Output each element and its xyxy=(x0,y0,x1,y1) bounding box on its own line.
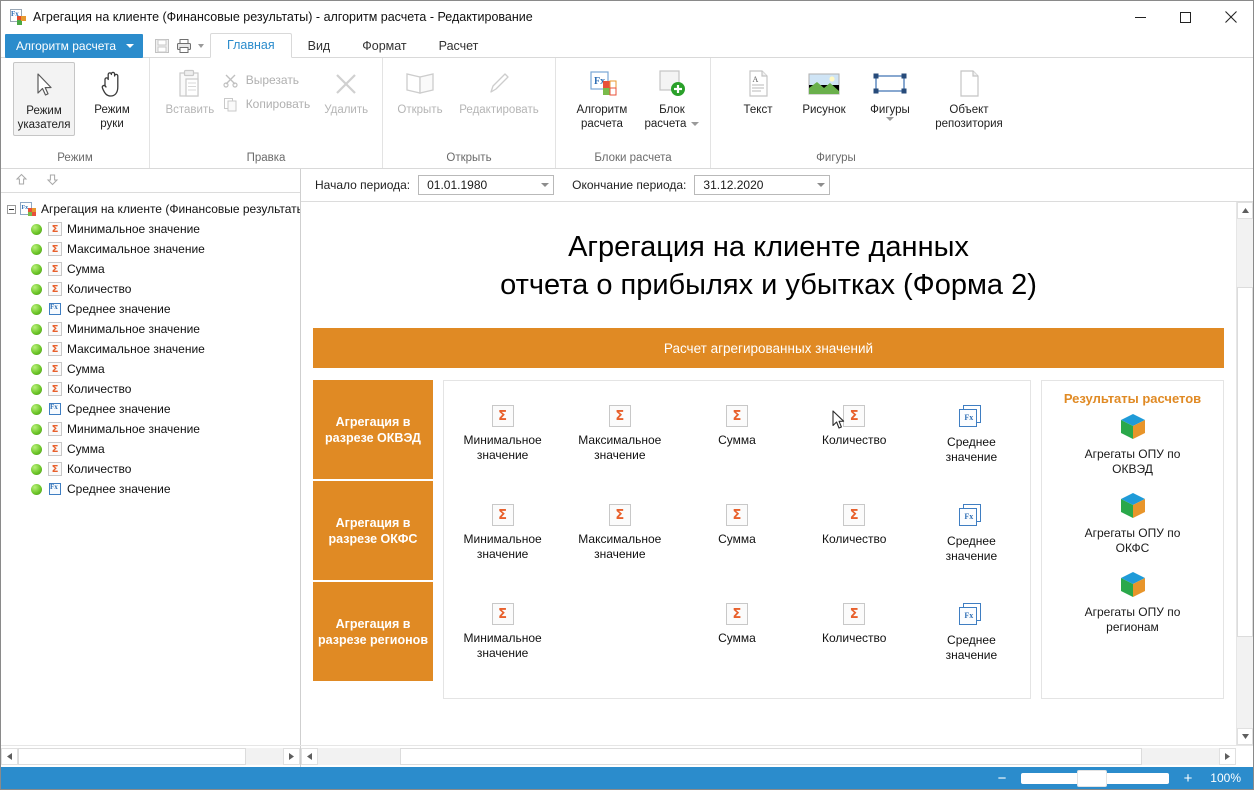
calculation-block[interactable]: ΣКоличество xyxy=(796,490,913,589)
tree-pane: Fx Агрегация на клиенте (Финансовые резу… xyxy=(1,169,301,745)
status-indicator-green xyxy=(31,284,42,295)
tree-children: ΣМинимальное значениеΣМаксимальное значе… xyxy=(1,219,300,499)
ribbon-group-label-rezhim: Режим xyxy=(1,152,149,168)
sigma-icon: Σ xyxy=(492,603,514,625)
tree-item-label: Количество xyxy=(67,462,131,476)
fx-icon: Fx xyxy=(958,504,984,528)
sigma-icon: Σ xyxy=(843,603,865,625)
collapse-icon[interactable] xyxy=(7,205,16,214)
arrow-down-icon[interactable] xyxy=(46,173,59,189)
canvas-hscroll-track[interactable] xyxy=(318,748,1219,765)
status-indicator-green xyxy=(31,464,42,475)
pointer-cursor-icon xyxy=(31,68,57,102)
sigma-icon: Σ xyxy=(48,262,62,276)
sigma-icon: Σ xyxy=(48,362,62,376)
sigma-icon: Σ xyxy=(48,462,62,476)
status-indicator-green xyxy=(31,424,42,435)
calc-block-label-2: расчета xyxy=(644,117,686,131)
hand-mode-button[interactable]: Режим руки xyxy=(81,62,143,134)
edit-button[interactable]: Редактировать xyxy=(453,62,545,120)
calculation-block[interactable]: ΣКоличество xyxy=(796,391,913,490)
calculation-block[interactable]: FxСреднеезначение xyxy=(913,490,1030,589)
calculation-block[interactable]: ΣСумма xyxy=(678,490,795,589)
open-button[interactable]: Открыть xyxy=(387,62,453,120)
calculation-block-label-1: Сумма xyxy=(718,433,756,447)
ribbon-tab-strip: Алгоритм расчета Главная xyxy=(1,33,1253,58)
tree-item-label: Максимальное значение xyxy=(67,342,205,356)
status-bar: − + 100% xyxy=(1,767,1253,789)
sigma-icon: Σ xyxy=(609,504,631,526)
pencil-icon xyxy=(486,67,512,101)
copy-button[interactable]: Копировать xyxy=(220,92,317,116)
tree-item-label: Среднее значение xyxy=(67,302,171,316)
cut-label: Вырезать xyxy=(246,73,299,87)
result-item-label-1: Агрегаты ОПУ по xyxy=(1085,605,1181,619)
calculation-block[interactable]: ΣМаксимальноезначение xyxy=(561,490,678,589)
aggregation-section-okfs[interactable]: Агрегация в разрезе ОКФС xyxy=(313,481,433,580)
start-period-combo[interactable]: 01.01.1980 xyxy=(418,175,554,195)
open-book-icon xyxy=(404,67,436,101)
delete-x-icon xyxy=(333,67,359,101)
sigma-icon: Σ xyxy=(843,504,865,526)
tree-item-label: Минимальное значение xyxy=(67,322,200,336)
status-indicator-green xyxy=(31,484,42,495)
scroll-up-button[interactable] xyxy=(1237,202,1253,219)
calculation-block-label-2: значение xyxy=(946,648,997,662)
canvas-hscroll-right-button[interactable] xyxy=(1219,748,1236,765)
application-menu-label: Алгоритм расчета xyxy=(16,39,116,53)
period-parameters-bar: Начало периода: 01.01.1980 Окончание пер… xyxy=(301,169,1253,202)
sigma-icon: Σ xyxy=(726,405,748,427)
algorithm-block-label-2: расчета xyxy=(581,117,623,131)
cube-icon xyxy=(1118,491,1148,521)
hand-mode-label-2: руки xyxy=(100,117,123,131)
tab-raschet[interactable]: Расчет xyxy=(423,34,495,58)
diagram-document: Агрегация на клиенте данных отчета о при… xyxy=(301,202,1236,699)
tree-toolbar xyxy=(1,169,300,193)
ribbon-tabs: Главная Вид Формат Расчет xyxy=(210,33,494,58)
chevron-down-icon xyxy=(817,183,825,187)
chevron-down-icon xyxy=(126,44,134,48)
application-window: Fx Агрегация на клиенте (Финансовые резу… xyxy=(0,0,1254,790)
text-shape-label: Текст xyxy=(744,103,773,117)
minimize-button[interactable] xyxy=(1118,2,1163,33)
status-indicator-green xyxy=(31,344,42,355)
vscroll-thumb[interactable] xyxy=(1237,287,1253,637)
calculation-block-label-1: Среднее xyxy=(947,435,996,449)
pointer-mode-button[interactable]: Режим указателя xyxy=(13,62,75,136)
shapes-icon xyxy=(871,67,909,101)
fx-module-icon: Fx xyxy=(20,202,36,217)
status-indicator-green xyxy=(31,384,42,395)
aggregation-sections-column: Агрегация в разрезе ОКВЭД Агрегация в ра… xyxy=(313,380,433,699)
calculation-block-label-2: значение xyxy=(594,547,645,561)
tree-item[interactable]: FxСреднее значение xyxy=(1,399,300,419)
sigma-icon: Σ xyxy=(48,382,62,396)
tree-horizontal-scrollbar[interactable] xyxy=(1,746,301,767)
main-body: Fx Агрегация на клиенте (Финансовые резу… xyxy=(1,169,1253,745)
repository-object-label-1: Объект xyxy=(949,103,988,117)
calculation-block-label-1: Максимальное xyxy=(578,433,661,447)
save-icon[interactable] xyxy=(152,36,172,56)
copy-label: Копировать xyxy=(246,97,311,111)
ribbon: Режим указателя Режим руки Режим xyxy=(1,58,1253,169)
diagram-canvas[interactable]: Агрегация на клиенте данных отчета о при… xyxy=(301,202,1236,745)
fx-algorithm-icon: Fx xyxy=(586,67,618,101)
fx-icon: Fx xyxy=(48,402,62,416)
bottom-scrollbar-row xyxy=(1,745,1253,767)
ribbon-group-bloki: Fx Алгоритм расчета xyxy=(555,58,710,168)
status-indicator-green xyxy=(31,224,42,235)
status-indicator-green xyxy=(31,324,42,335)
window-title: Агрегация на клиенте (Финансовые результ… xyxy=(33,10,533,24)
sigma-icon: Σ xyxy=(492,504,514,526)
canvas-horizontal-scrollbar[interactable] xyxy=(301,746,1236,767)
calculation-block[interactable]: FxСреднеезначение xyxy=(913,391,1030,490)
tree-item-label: Минимальное значение xyxy=(67,222,200,236)
canvas-hscroll-left-button[interactable] xyxy=(301,748,318,765)
zoom-slider-thumb[interactable] xyxy=(1077,770,1107,787)
edit-label: Редактировать xyxy=(459,103,538,117)
calculation-block-label-1: Количество xyxy=(822,532,886,546)
repository-object-label-2: репозитория xyxy=(935,117,1003,131)
result-item-label-1: Агрегаты ОПУ по xyxy=(1085,447,1181,461)
start-period-value: 01.01.1980 xyxy=(427,178,487,192)
calculation-block-label-2: значение xyxy=(946,549,997,563)
quick-access-toolbar xyxy=(143,36,210,58)
chevron-down-icon[interactable] xyxy=(886,117,894,121)
tree-item[interactable]: ΣСумма xyxy=(1,359,300,379)
result-item-label-1: Агрегаты ОПУ по xyxy=(1085,526,1181,540)
status-indicator-green xyxy=(31,244,42,255)
tree-item[interactable]: ΣКоличество xyxy=(1,459,300,479)
status-indicator-green xyxy=(31,404,42,415)
cube-icon xyxy=(1118,570,1148,600)
tree-root-label: Агрегация на клиенте (Финансовые результ… xyxy=(41,202,300,216)
tree-hscroll-left-button[interactable] xyxy=(1,748,18,765)
cut-button[interactable]: Вырезать xyxy=(220,68,317,92)
picture-button[interactable]: Рисунок xyxy=(791,62,857,120)
svg-text:Fx: Fx xyxy=(22,205,29,211)
tree-hscroll-right-button[interactable] xyxy=(283,748,300,765)
tree-item-label: Количество xyxy=(67,382,131,396)
calculation-block-label-1: Минимальное xyxy=(464,532,542,546)
fx-icon: Fx xyxy=(48,302,62,316)
tree-item-label: Среднее значение xyxy=(67,482,171,496)
zoom-in-button[interactable]: + xyxy=(1180,771,1196,786)
text-page-icon: A xyxy=(745,67,771,101)
shapes-label: Фигуры xyxy=(870,103,910,117)
tab-format[interactable]: Формат xyxy=(346,34,422,58)
calculation-block-label-1: Минимальное xyxy=(464,433,542,447)
zoom-level-label: 100% xyxy=(1207,771,1241,785)
fx-icon: Fx xyxy=(48,482,62,496)
result-item-label-2: регионам xyxy=(1106,620,1159,634)
shapes-button[interactable]: Фигуры xyxy=(857,62,923,124)
calculation-block[interactable]: ΣМинимальноезначение xyxy=(444,490,561,589)
algorithm-tree: Fx Агрегация на клиенте (Финансовые резу… xyxy=(1,193,300,745)
ribbon-group-label-pravka: Правка xyxy=(150,152,382,168)
calculation-block-label-1: Сумма xyxy=(718,631,756,645)
vscroll-track[interactable] xyxy=(1237,219,1253,728)
open-label: Открыть xyxy=(397,103,442,117)
calculation-block[interactable]: ΣМинимальноезначение xyxy=(444,589,561,688)
tab-glavnaya[interactable]: Главная xyxy=(210,33,292,58)
copy-icon xyxy=(222,95,240,113)
section-banner[interactable]: Расчет агрегированных значений xyxy=(313,328,1224,368)
tree-item-label: Минимальное значение xyxy=(67,422,200,436)
tree-item[interactable]: ΣМинимальное значение xyxy=(1,219,300,239)
sigma-icon: Σ xyxy=(48,222,62,236)
result-item[interactable]: Агрегаты ОПУ порегионам xyxy=(1050,570,1215,635)
tree-item-label: Сумма xyxy=(67,362,105,376)
print-icon[interactable] xyxy=(174,36,194,56)
fx-icon: Fx xyxy=(958,603,984,627)
customize-quick-access-icon[interactable] xyxy=(198,44,204,48)
title-bar: Fx Агрегация на клиенте (Финансовые резу… xyxy=(1,1,1253,33)
aggregation-section-okved[interactable]: Агрегация в разрезе ОКВЭД xyxy=(313,380,433,479)
application-menu-button[interactable]: Алгоритм расчета xyxy=(5,34,143,58)
results-panel: Результаты расчетов Агрегаты ОПУ поОКВЭД… xyxy=(1041,380,1224,699)
tree-item-label: Количество xyxy=(67,282,131,296)
ribbon-group-label-figury: Фигуры xyxy=(711,152,961,168)
result-item[interactable]: Агрегаты ОПУ поОКВЭД xyxy=(1050,412,1215,477)
paste-button[interactable]: Вставить xyxy=(160,62,220,120)
start-period-label: Начало периода: xyxy=(315,178,410,192)
sigma-icon: Σ xyxy=(48,322,62,336)
calculation-block-label-2: значение xyxy=(594,448,645,462)
calculation-block-label-1: Сумма xyxy=(718,532,756,546)
document-title-line2: отчета о прибылях и убытках (Форма 2) xyxy=(500,269,1037,301)
scrollbar-corner xyxy=(1236,746,1253,763)
tree-item[interactable]: ΣМаксимальное значение xyxy=(1,339,300,359)
editor-pane: Начало периода: 01.01.1980 Окончание пер… xyxy=(301,169,1253,745)
sigma-icon: Σ xyxy=(48,282,62,296)
text-shape-button[interactable]: A Текст xyxy=(725,62,791,120)
diagram-body: Агрегация в разрезе ОКВЭД Агрегация в ра… xyxy=(313,380,1224,699)
svg-text:A: A xyxy=(753,75,759,84)
ribbon-group-label-otkryt: Открыть xyxy=(383,152,555,168)
sigma-icon: Σ xyxy=(48,422,62,436)
end-period-value: 31.12.2020 xyxy=(703,178,763,192)
sigma-icon: Σ xyxy=(843,405,865,427)
tree-item[interactable]: ΣКоличество xyxy=(1,379,300,399)
paste-icon xyxy=(176,67,204,101)
tree-item[interactable]: ΣКоличество xyxy=(1,279,300,299)
results-panel-header: Результаты расчетов xyxy=(1050,391,1215,406)
calc-block-button[interactable]: Блок расчета xyxy=(640,62,704,134)
calculation-block-label-2: значение xyxy=(477,448,528,462)
tree-item-label: Сумма xyxy=(67,442,105,456)
tree-hscroll-track[interactable] xyxy=(18,748,283,765)
tab-vid[interactable]: Вид xyxy=(292,34,347,58)
repository-object-button[interactable]: Объект репозитория xyxy=(923,62,1015,134)
calculation-row: ΣМинимальноезначениеΣМаксимальноезначени… xyxy=(444,391,1030,490)
tree-hscroll-thumb[interactable] xyxy=(18,748,246,765)
zoom-slider[interactable] xyxy=(1021,773,1169,784)
calculation-block[interactable]: ΣКоличество xyxy=(796,589,913,688)
add-block-icon xyxy=(657,67,687,101)
hand-icon xyxy=(99,67,126,101)
maximize-button[interactable] xyxy=(1163,2,1208,33)
ribbon-group-rezhim: Режим указателя Режим руки Режим xyxy=(1,58,149,168)
hand-mode-label-1: Режим xyxy=(94,103,129,117)
delete-label: Удалить xyxy=(324,103,368,117)
sigma-icon: Σ xyxy=(609,405,631,427)
status-indicator-green xyxy=(31,264,42,275)
document-title-line1: Агрегация на клиенте данных xyxy=(568,231,969,263)
calculation-block-label-1: Минимальное xyxy=(464,631,542,645)
calculation-block-label-1: Среднее xyxy=(947,633,996,647)
pointer-mode-label-2: указателя xyxy=(18,118,71,132)
chevron-down-icon xyxy=(541,183,549,187)
repository-object-icon xyxy=(956,67,982,101)
tree-item-label: Среднее значение xyxy=(67,402,171,416)
tree-item[interactable]: ΣМаксимальное значение xyxy=(1,239,300,259)
tree-item-label: Сумма xyxy=(67,262,105,276)
calculation-block[interactable]: ΣМинимальноезначение xyxy=(444,391,561,490)
end-period-combo[interactable]: 31.12.2020 xyxy=(694,175,830,195)
calculation-block-label-1: Среднее xyxy=(947,534,996,548)
calculation-row: ΣМинимальноезначениеΣСуммаΣКоличествоFxС… xyxy=(444,589,1030,688)
calculation-block[interactable]: ΣМаксимальноезначение xyxy=(561,391,678,490)
app-icon: Fx xyxy=(10,9,26,25)
tree-item[interactable]: ΣСумма xyxy=(1,439,300,459)
calculation-block-label-2: значение xyxy=(477,646,528,660)
canvas-vertical-scrollbar[interactable] xyxy=(1236,202,1253,745)
result-item-label-2: ОКФС xyxy=(1116,541,1150,555)
tree-item[interactable]: ΣМинимальное значение xyxy=(1,419,300,439)
scissors-icon xyxy=(222,71,240,89)
sigma-icon: Σ xyxy=(48,242,62,256)
sigma-icon: Σ xyxy=(48,342,62,356)
calculation-block-label-2: значение xyxy=(477,547,528,561)
picture-label: Рисунок xyxy=(802,103,845,117)
status-indicator-green xyxy=(31,304,42,315)
close-button[interactable] xyxy=(1208,2,1253,33)
arrow-up-icon[interactable] xyxy=(15,173,28,189)
calculation-block-label-1: Количество xyxy=(822,433,886,447)
result-item[interactable]: Агрегаты ОПУ поОКФС xyxy=(1050,491,1215,556)
calculation-block-label-1: Количество xyxy=(822,631,886,645)
ribbon-group-pravka: Вставить Вырезать xyxy=(149,58,382,168)
calculation-block[interactable]: ΣСумма xyxy=(678,391,795,490)
canvas-hscroll-thumb[interactable] xyxy=(400,748,1142,765)
zoom-out-button[interactable]: − xyxy=(994,771,1010,786)
status-indicator-green xyxy=(31,364,42,375)
scroll-down-button[interactable] xyxy=(1237,728,1253,745)
aggregation-section-regions[interactable]: Агрегация в разрезе регионов xyxy=(313,582,433,681)
tree-item[interactable]: FxСреднее значение xyxy=(1,299,300,319)
calculation-block[interactable]: FxСреднеезначение xyxy=(913,589,1030,688)
tree-item[interactable]: FxСреднее значение xyxy=(1,479,300,499)
tree-item-label: Максимальное значение xyxy=(67,242,205,256)
sigma-icon: Σ xyxy=(726,504,748,526)
algorithm-block-label-1: Алгоритм xyxy=(577,103,628,117)
delete-button[interactable]: Удалить xyxy=(316,62,376,120)
pointer-mode-label-1: Режим xyxy=(26,104,61,118)
picture-icon xyxy=(807,67,841,101)
result-item-label-2: ОКВЭД xyxy=(1112,462,1153,476)
ribbon-group-otkryt: Открыть Редактировать Открыть xyxy=(382,58,555,168)
canvas-wrapper: Агрегация на клиенте данных отчета о при… xyxy=(301,202,1253,745)
algorithm-block-button[interactable]: Fx Алгоритм расчета xyxy=(564,62,640,134)
tree-root-node[interactable]: Fx Агрегация на клиенте (Финансовые резу… xyxy=(1,199,300,219)
sigma-icon: Σ xyxy=(726,603,748,625)
results-list: Агрегаты ОПУ поОКВЭДАгрегаты ОПУ поОКФСА… xyxy=(1050,412,1215,635)
sigma-icon: Σ xyxy=(48,442,62,456)
calculation-block[interactable]: ΣСумма xyxy=(678,589,795,688)
tree-item[interactable]: ΣСумма xyxy=(1,259,300,279)
calculation-row: ΣМинимальноезначениеΣМаксимальноезначени… xyxy=(444,490,1030,589)
chevron-down-icon[interactable] xyxy=(691,122,699,126)
calc-block-label-1: Блок xyxy=(659,103,685,117)
status-indicator-green xyxy=(31,444,42,455)
end-period-label: Окончание периода: xyxy=(572,178,686,192)
ribbon-group-label-bloki: Блоки расчета xyxy=(556,152,710,168)
paste-label: Вставить xyxy=(165,103,214,117)
calculation-blocks-grid: ΣМинимальноезначениеΣМаксимальноезначени… xyxy=(443,380,1031,699)
ribbon-group-figury: A Текст xyxy=(710,58,1253,168)
calculation-block-label-1: Максимальное xyxy=(578,532,661,546)
fx-icon: Fx xyxy=(958,405,984,429)
calculation-block-label-2: значение xyxy=(946,450,997,464)
cube-icon xyxy=(1118,412,1148,442)
tree-item[interactable]: ΣМинимальное значение xyxy=(1,319,300,339)
sigma-icon: Σ xyxy=(492,405,514,427)
calculation-cell-empty xyxy=(561,589,678,688)
document-title: Агрегация на клиенте данных отчета о при… xyxy=(301,228,1236,304)
